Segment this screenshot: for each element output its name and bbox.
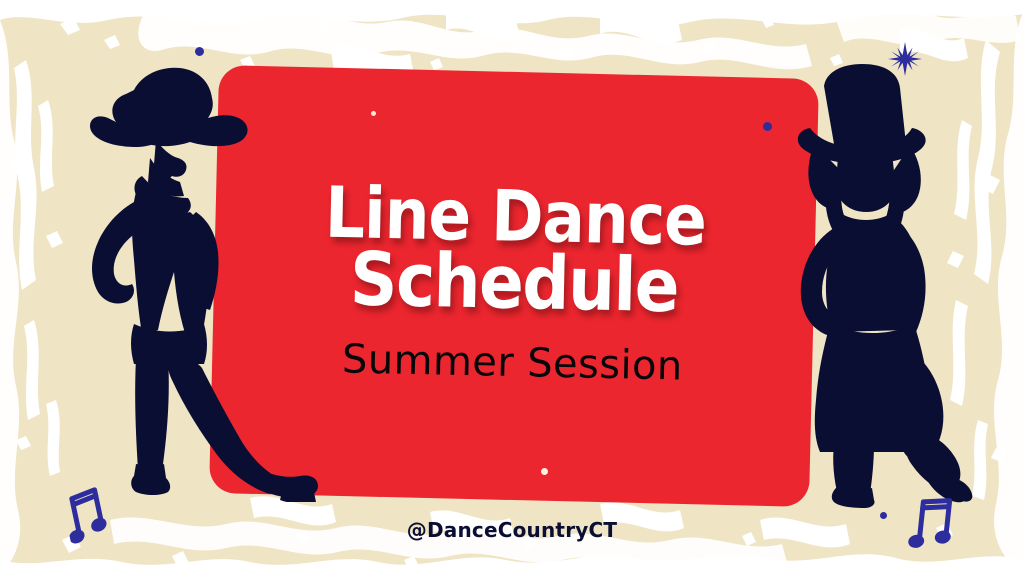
title-block: Line Dance Schedule Summer Session	[210, 66, 819, 506]
sparkle-svg	[888, 42, 922, 76]
blue-dot-panel-right	[763, 122, 772, 131]
blue-dot-top-left	[195, 47, 204, 56]
blue-dot-bottom-right	[880, 512, 887, 519]
subtitle: Summer Session	[340, 337, 684, 486]
social-handle: @DanceCountryCT	[0, 518, 1024, 542]
cream-dot-panel-bottom	[541, 468, 548, 475]
page-title: Line Dance Schedule	[323, 73, 709, 321]
music-note-bottom-right-icon	[907, 492, 959, 558]
music-note-right-svg	[907, 492, 959, 558]
cream-dot-panel-top	[371, 111, 376, 116]
title-line-2: Schedule	[323, 245, 705, 321]
poster-canvas: Line Dance Schedule Summer Session @Danc…	[0, 0, 1024, 576]
sparkle-star-icon	[888, 42, 922, 76]
